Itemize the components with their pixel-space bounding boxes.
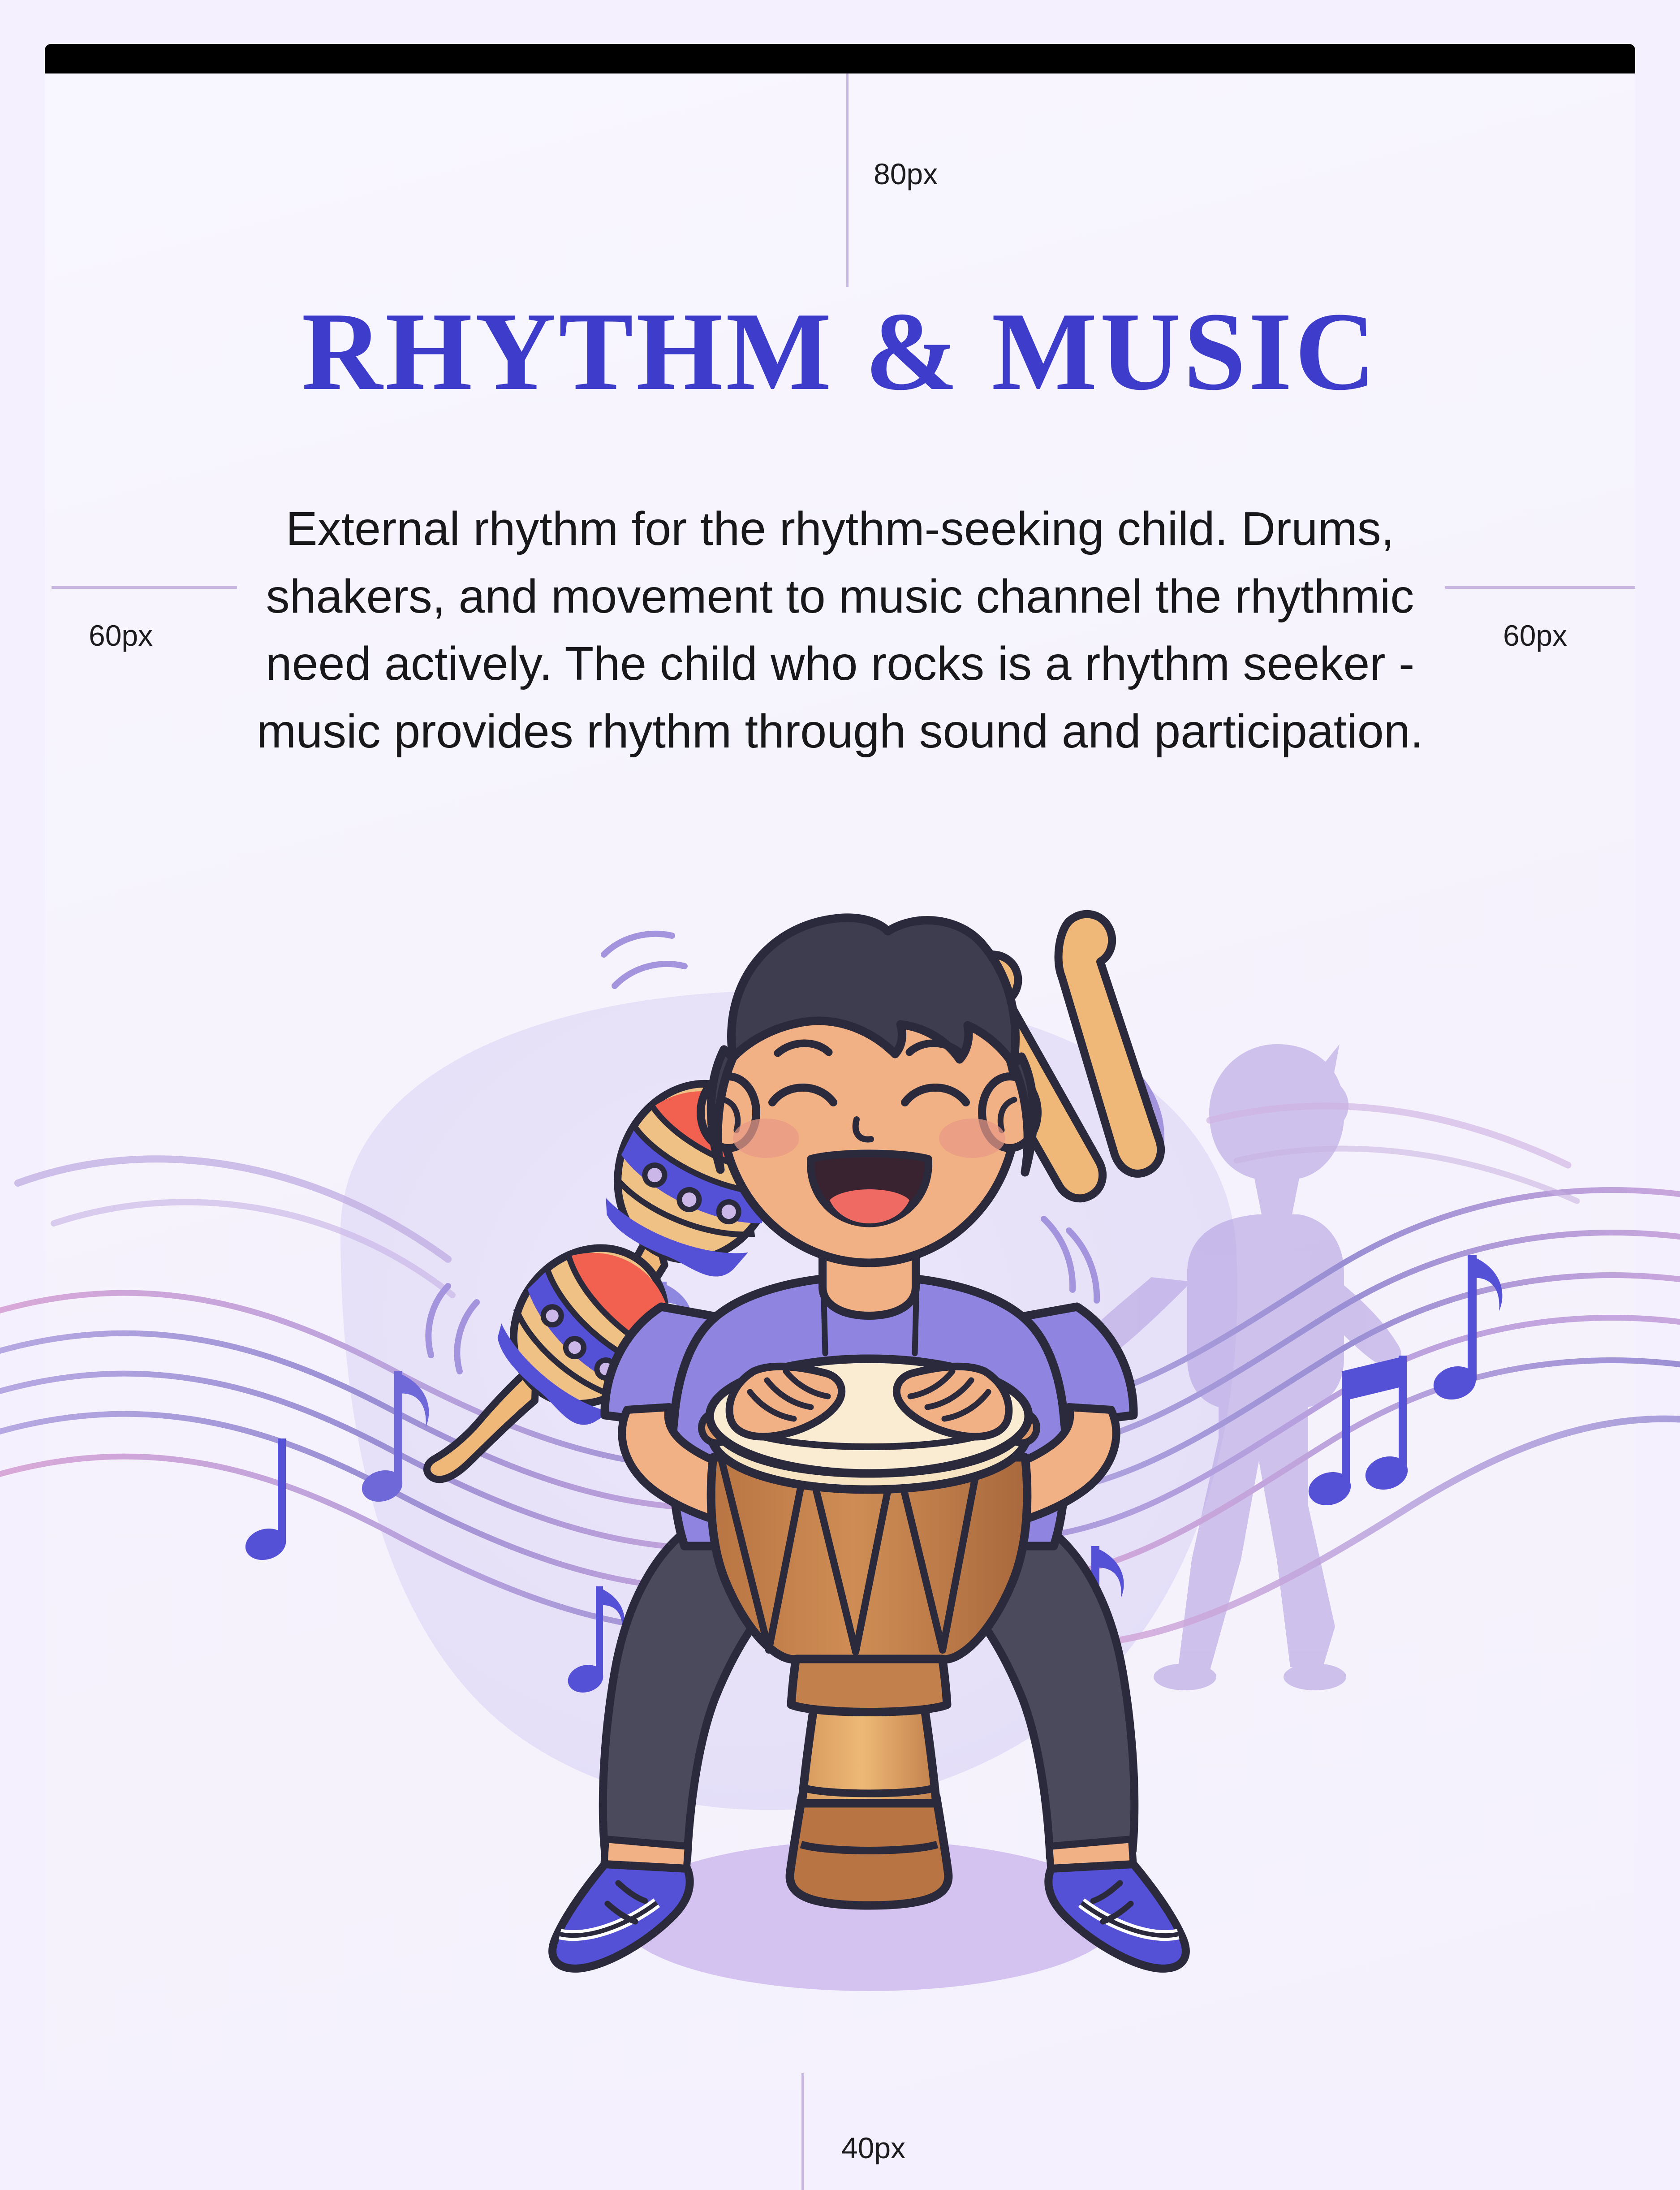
guide-line-top-vertical [846,73,849,287]
music-note-eighth-bottom-left [241,1438,289,1564]
top-black-bar [45,44,1635,73]
body-paragraph: External rhythm for the rhythm-seeking c… [213,495,1467,765]
measurement-label-bottom: 40px [841,2131,905,2165]
djembe-drum [702,1359,1037,1905]
illustration-boy-playing-drum [0,910,1680,2021]
motion-lines-maraca-upper [604,934,685,986]
measurement-label-right: 60px [1503,618,1567,652]
guide-line-bottom-vertical [801,2073,804,2190]
guide-line-right-horizontal [1445,586,1635,589]
poster-page: 80px 60px 60px 40px RHYTHM & MUSIC Exter… [0,0,1680,2190]
page-title: RHYTHM & MUSIC [45,296,1635,408]
measurement-label-left: 60px [89,618,153,652]
measurement-label-top: 80px [874,157,938,191]
guide-line-left-horizontal [52,586,237,589]
